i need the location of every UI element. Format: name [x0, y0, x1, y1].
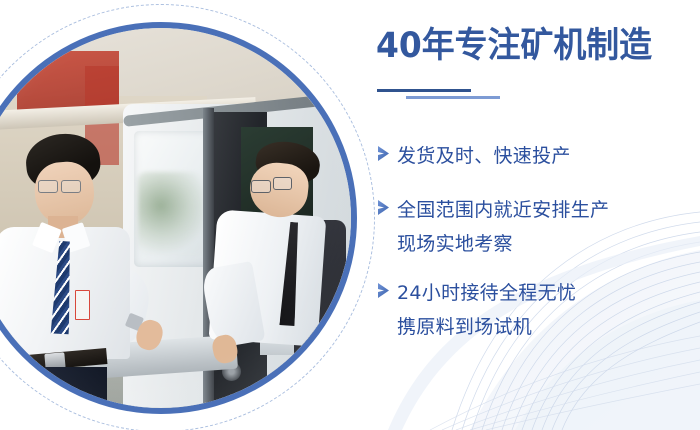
- list-item-line: 现场实地考察: [397, 226, 700, 263]
- arrow-right-icon: [375, 282, 397, 300]
- team-photo: [0, 28, 351, 408]
- photo-person-right-glasses-left: [251, 180, 271, 193]
- photo-person-left-trousers: [0, 367, 107, 408]
- arrow-right-icon: [375, 145, 397, 163]
- photo-person-right: [210, 142, 351, 378]
- photo-scene: [0, 28, 351, 408]
- photo-ring: [0, 22, 357, 414]
- photo-person-left-glasses-left: [38, 180, 58, 194]
- arrow-right-icon: [375, 199, 397, 217]
- promo-banner: 40年专注矿机制造: [0, 0, 700, 430]
- photo-person-left: [0, 134, 153, 408]
- list-item-text: 24小时接待全程无忧 携原料到场试机: [397, 277, 700, 346]
- list-item-text: 发货及时、快速投产: [397, 140, 700, 172]
- list-item-line: 全国范围内就近安排生产: [397, 194, 700, 226]
- list-item-line: 携原料到场试机: [397, 309, 700, 346]
- headline-row: 40年专注矿机制造: [376, 24, 700, 68]
- page-title: 40年专注矿机制造: [376, 24, 681, 68]
- list-item-text: 全国范围内就近安排生产 现场实地考察: [397, 194, 700, 263]
- list-item-line: 发货及时、快速投产: [397, 140, 700, 172]
- photo-circle-group: [0, 22, 357, 414]
- feature-list: 发货及时、快速投产 全国范围内就近安排生产 现场实地考察: [372, 140, 700, 349]
- content-column: 40年专注矿机制造: [372, 0, 700, 430]
- photo-person-left-glasses-right: [61, 180, 81, 194]
- photo-person-left-badge: [75, 290, 90, 320]
- title-rule-light: [406, 96, 500, 99]
- title-rule-dark: [377, 89, 471, 92]
- list-item-line: 24小时接待全程无忧: [397, 277, 700, 309]
- list-item: 全国范围内就近安排生产 现场实地考察: [372, 194, 700, 263]
- photo-person-right-glasses-right: [273, 177, 293, 190]
- list-item: 24小时接待全程无忧 携原料到场试机: [372, 277, 700, 346]
- list-item: 发货及时、快速投产: [372, 140, 700, 172]
